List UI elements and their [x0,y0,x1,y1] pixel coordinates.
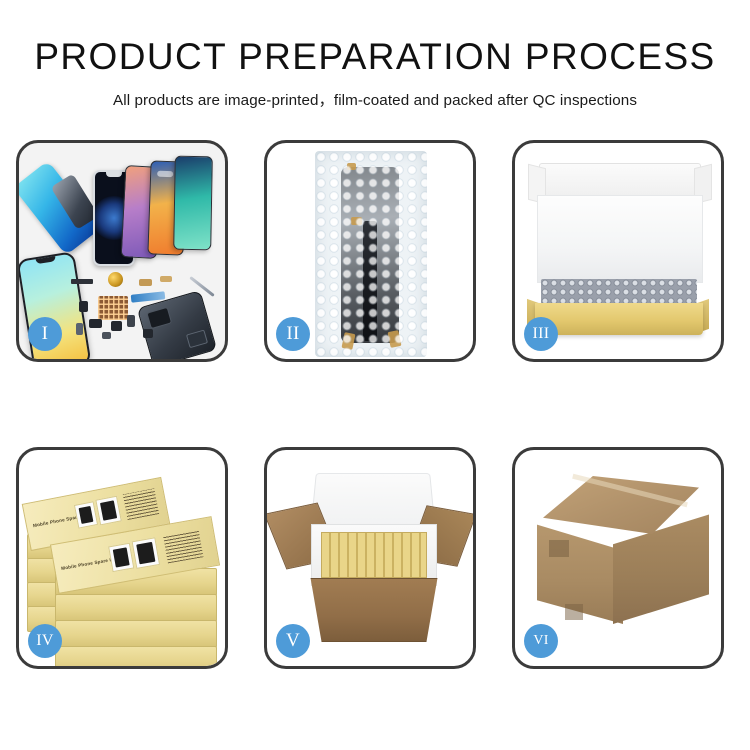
retail-box [55,620,217,648]
carton-front-wall [305,578,443,642]
wrapped-flex-strip [363,221,377,341]
process-step-panel-3: III [512,140,724,362]
step-badge-2: II [276,317,310,351]
box-window [132,537,160,569]
box-window [95,496,122,526]
process-step-grid: I II III [16,140,734,669]
small-part [143,329,153,338]
gold-tab [347,163,356,170]
gold-tab [341,332,355,350]
process-step-panel-2: II [264,140,476,362]
carton-tab [549,540,569,557]
packed-yellow-boxes [321,532,427,578]
gold-tab [387,330,401,348]
small-part [160,276,172,282]
small-part [89,319,102,328]
bubble-wrap-sleeve [315,151,427,357]
sealed-carton [531,476,711,636]
bar-component [71,279,93,284]
retail-box [55,646,217,666]
kraft-box-front [535,303,703,335]
small-part [127,315,135,327]
carton-tab [565,604,583,620]
blue-gradient-phone [19,161,101,256]
gold-coil-component [108,272,123,287]
page-subtitle: All products are image-printed，film-coat… [0,88,750,110]
phone-teal [173,156,213,251]
box-window [108,543,134,572]
small-part [76,323,83,335]
process-step-panel-1: I [16,140,228,362]
page-title: PRODUCT PREPARATION PROCESS [0,38,750,77]
step-badge-6: VI [524,624,558,658]
process-step-panel-6: VI [512,447,724,669]
step-badge-5: V [276,624,310,658]
process-step-panel-5: V [264,447,476,669]
retail-box [55,594,217,622]
page-header: PRODUCT PREPARATION PROCESS All products… [0,0,750,110]
step-badge-4: IV [28,624,62,658]
box-spec-lines [163,530,203,564]
copper-circuit-grid [98,296,128,320]
white-foam-liner [537,195,703,283]
gold-tab [351,217,362,225]
small-part [102,332,111,339]
box-window [74,501,98,528]
box-spec-lines [123,488,159,520]
small-part [79,301,88,312]
step-badge-3: III [524,317,558,351]
bubble-padding-layer [541,279,697,305]
small-part [111,321,122,331]
small-part [139,279,152,286]
step-badge-1: I [28,317,62,351]
process-step-panel-4: Mobile Phone Spare Parts Mobile Phone Sp… [16,447,228,669]
